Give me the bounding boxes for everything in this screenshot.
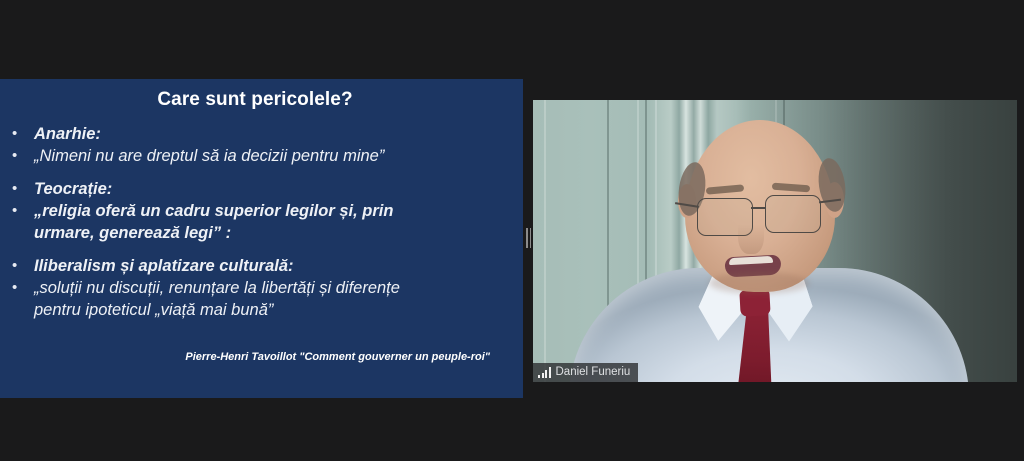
signal-bar <box>549 367 551 378</box>
slide-bullet-list: • Anarhie: • „Nimeni nu are dreptul să i… <box>12 123 512 332</box>
chin-shadow <box>709 272 809 294</box>
bullet-text: pentru ipoteticul „viață mai bună” <box>34 299 512 321</box>
bullet-text: urmare, generează legi” : <box>34 222 512 244</box>
shared-slide[interactable]: Care sunt pericolele? • Anarhie: • „Nime… <box>0 79 523 398</box>
meeting-screen-share-view: Care sunt pericolele? • Anarhie: • „Nime… <box>0 0 1024 461</box>
bullet-text: Anarhie: <box>34 123 512 145</box>
signal-bars-icon <box>538 367 551 378</box>
bullet-line: • „Nimeni nu are dreptul să ia decizii p… <box>12 145 512 167</box>
glasses-temple-right <box>819 199 841 204</box>
signal-bar <box>538 375 540 378</box>
slide-title: Care sunt pericolele? <box>0 89 510 111</box>
bullet-block: • Iliberalism și aplatizare culturală: •… <box>12 255 512 321</box>
participant-name-label: Daniel Funeriu <box>556 366 631 378</box>
bullet-dot: • <box>12 255 34 277</box>
handle-bar <box>530 228 532 248</box>
bullet-line: • Iliberalism și aplatizare culturală: <box>12 255 512 277</box>
bullet-line: • „religia oferă un cadru superior legil… <box>12 200 512 222</box>
bullet-text: Teocrație: <box>34 178 512 200</box>
bullet-dot: • <box>12 200 34 222</box>
bullet-text: Iliberalism și aplatizare culturală: <box>34 255 512 277</box>
nose <box>738 212 764 254</box>
bullet-block: • Anarhie: • „Nimeni nu are dreptul să i… <box>12 123 512 167</box>
bullet-text: „soluții nu discuții, renunțare la liber… <box>34 277 512 299</box>
bullet-line-continuation: • pentru ipoteticul „viață mai bună” <box>12 299 512 321</box>
participant-name-badge: Daniel Funeriu <box>533 363 638 382</box>
lens-right <box>765 195 821 233</box>
bullet-text: „Nimeni nu are dreptul să ia decizii pen… <box>34 145 512 167</box>
glasses-temple-left <box>675 202 699 208</box>
bullet-dot: • <box>12 123 34 145</box>
handle-bar <box>526 228 528 248</box>
eyeglasses <box>533 100 1017 382</box>
bullet-block: • Teocrație: • „religia oferă un cadru s… <box>12 178 512 244</box>
bullet-line: • Teocrație: <box>12 178 512 200</box>
bullet-line: • Anarhie: <box>12 123 512 145</box>
bullet-text: „religia oferă un cadru superior legilor… <box>34 200 512 222</box>
participant-video-tile[interactable]: Daniel Funeriu <box>533 100 1017 382</box>
participant-person <box>533 100 1017 382</box>
signal-bar <box>545 370 547 378</box>
bullet-line-continuation: • urmare, generează legi” : <box>12 222 512 244</box>
panel-resize-handle[interactable] <box>524 226 533 250</box>
slide-attribution: Pierre-Henri Tavoillot "Comment gouverne… <box>0 351 490 363</box>
bullet-dot: • <box>12 145 34 167</box>
glasses-bridge <box>751 207 766 209</box>
bullet-dot: • <box>12 178 34 200</box>
bullet-dot: • <box>12 277 34 299</box>
signal-bar <box>542 373 544 378</box>
bullet-line: • „soluții nu discuții, renunțare la lib… <box>12 277 512 299</box>
